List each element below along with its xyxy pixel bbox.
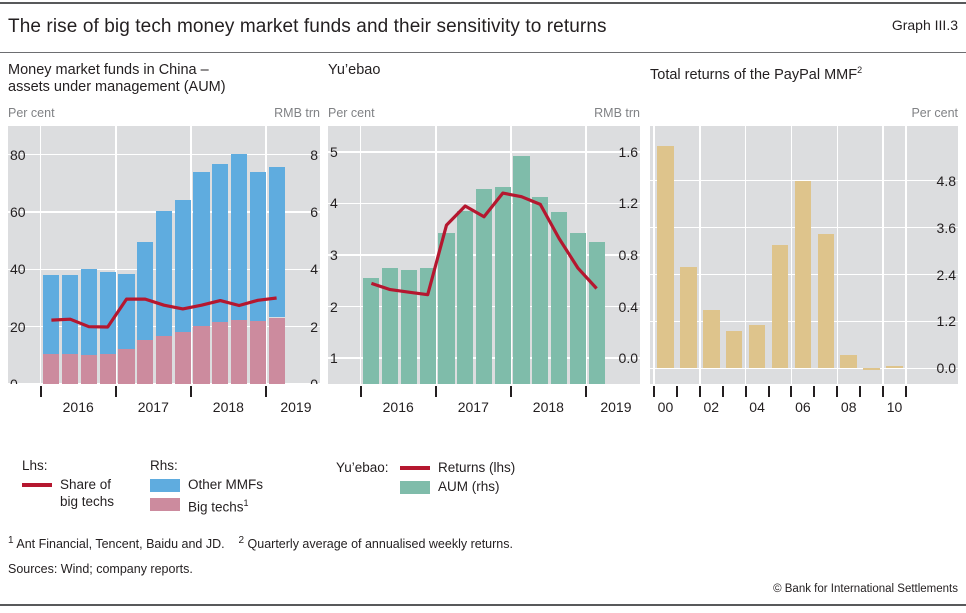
- x-axis-tick: [510, 386, 512, 397]
- legend-share-label-line1: Share of: [60, 477, 111, 492]
- panel-yuebao: Yu’ebao Per cent RMB trn 123450.00.40.81…: [328, 62, 640, 442]
- panel-1-axis-units: Per cent RMB trn: [8, 106, 320, 126]
- y-axis-label-right: 8: [310, 147, 318, 163]
- x-axis-tick: [859, 386, 861, 397]
- returns-bar: [863, 368, 879, 370]
- returns-bar: [749, 325, 765, 368]
- y-axis-label-right: 1.6: [619, 144, 638, 160]
- gridline-v: [699, 126, 701, 384]
- y-axis-label-right: 4.8: [937, 173, 956, 189]
- returns-line: [328, 126, 640, 384]
- copyright-text: © Bank for International Settlements: [773, 583, 958, 595]
- panel-2-title: Yu’ebao: [328, 62, 640, 102]
- panel-1-title: Money market funds in China – assets und…: [8, 62, 320, 102]
- x-axis-label: 02: [703, 399, 719, 415]
- y-axis-label-left: 0: [10, 376, 18, 384]
- pink-swatch-icon: [150, 498, 180, 511]
- x-axis-tick: [585, 386, 587, 397]
- y-axis-label-left: 4: [330, 195, 338, 211]
- x-axis-tick: [435, 386, 437, 397]
- graph-number: Graph III.3: [892, 17, 958, 33]
- x-axis-tick: [676, 386, 678, 397]
- panel-3-x-axis: [650, 384, 958, 398]
- y-axis-label-left: 20: [10, 319, 26, 335]
- returns-bar: [703, 310, 719, 369]
- gridline-v: [653, 126, 655, 384]
- legend-item-share-of-big-techs: Share of big techs: [22, 476, 142, 510]
- footnote-2-marker: 2: [239, 535, 245, 546]
- footnote-1-text: Ant Financial, Tencent, Baidu and JD.: [16, 537, 224, 551]
- footnote-1-marker: 1: [8, 535, 14, 546]
- x-axis-tick: [790, 386, 792, 397]
- legend-other-mmfs-label: Other MMFs: [188, 476, 263, 493]
- y-axis-label-right: 2.4: [937, 267, 956, 283]
- y-axis-label-right: 2: [310, 319, 318, 335]
- panel-3-plot: 0.01.22.43.64.8: [650, 126, 958, 384]
- top-rule: [0, 2, 966, 4]
- x-axis-label: 10: [887, 399, 903, 415]
- x-axis-label: 00: [658, 399, 674, 415]
- x-axis-label: 2016: [383, 399, 414, 415]
- legend-big-techs-footnote-marker: 1: [244, 498, 249, 508]
- y-axis-label-right: 0.8: [619, 247, 638, 263]
- x-axis-label: 06: [795, 399, 811, 415]
- y-axis-label-right: 6: [310, 204, 318, 220]
- x-axis-label: 2017: [458, 399, 489, 415]
- returns-bar: [840, 355, 856, 369]
- y-axis-label-left: 5: [330, 144, 338, 160]
- legend-share-label-line2: big techs: [60, 494, 114, 509]
- returns-bar: [818, 234, 834, 369]
- legend-returns-label: Returns (lhs): [438, 458, 515, 477]
- x-axis-tick: [265, 386, 267, 397]
- x-axis-label: 2018: [213, 399, 244, 415]
- blue-swatch-icon: [150, 479, 180, 492]
- panel-3-x-labels: 000204060810: [650, 398, 958, 420]
- x-axis-tick: [768, 386, 770, 397]
- returns-bar: [657, 146, 673, 369]
- y-axis-label-left: 3: [330, 247, 338, 263]
- x-axis-label: 08: [841, 399, 857, 415]
- gridline-v: [791, 126, 793, 384]
- title-rule: [0, 52, 966, 53]
- panel-1-unit-left: Per cent: [8, 106, 55, 120]
- panel-1-x-labels: 2016201720182019: [8, 398, 320, 420]
- legend-1-rhs: Rhs: Other MMFs Big techs1: [150, 458, 330, 518]
- gridline-v: [905, 126, 907, 384]
- x-axis-label: 2018: [533, 399, 564, 415]
- legend-aum-label: AUM (rhs): [438, 477, 500, 496]
- y-axis-label-right: 0.0: [937, 360, 956, 376]
- x-axis-tick: [360, 386, 362, 397]
- y-axis-label-right: 4: [310, 261, 318, 277]
- x-axis-label: 04: [749, 399, 765, 415]
- legend-item-returns: Yu’ebao: Returns (lhs): [336, 458, 636, 477]
- x-axis-tick: [653, 386, 655, 397]
- green-swatch-icon: [400, 481, 430, 494]
- bottom-rule: [0, 604, 966, 606]
- line-swatch-icon: [400, 466, 430, 470]
- y-axis-label-left: 80: [10, 147, 26, 163]
- x-axis-tick: [699, 386, 701, 397]
- panel-1-plot: 02040608002468: [8, 126, 320, 384]
- x-axis-label: 2017: [138, 399, 169, 415]
- panel-2-x-axis: [328, 384, 640, 398]
- x-axis-label: 2019: [280, 399, 311, 415]
- gridline-v: [837, 126, 839, 384]
- x-axis-tick: [40, 386, 42, 397]
- legend-item-aum: AUM (rhs): [336, 477, 636, 496]
- panel-money-market-funds-china: Money market funds in China – assets und…: [8, 62, 320, 442]
- panel-2-unit-left: Per cent: [328, 106, 375, 120]
- legend-item-other-mmfs: Other MMFs: [150, 476, 330, 493]
- returns-bar: [772, 245, 788, 368]
- panel-2-title-text: Yu’ebao: [328, 62, 640, 79]
- y-axis-label-left: 2: [330, 299, 338, 315]
- share-of-big-techs-line: [8, 126, 320, 384]
- returns-bar: [886, 366, 902, 368]
- panel-2-axis-units: Per cent RMB trn: [328, 106, 640, 126]
- legend-rhs-head: Rhs:: [150, 458, 330, 473]
- panel-2-plot: 123450.00.40.81.21.6: [328, 126, 640, 384]
- legend-big-techs-label: Big techs: [188, 500, 244, 515]
- x-axis-tick: [882, 386, 884, 397]
- sources-text: Sources: Wind; company reports.: [8, 562, 193, 576]
- panel-2-x-labels: 2016201720182019: [328, 398, 640, 420]
- panel-2-unit-right: RMB trn: [594, 106, 640, 120]
- panel-3-title: Total returns of the PayPal MMF2: [650, 62, 958, 102]
- y-axis-label-right: 0: [310, 376, 318, 384]
- x-axis-tick: [836, 386, 838, 397]
- y-axis-label-right: 1.2: [937, 313, 956, 329]
- x-axis-tick: [905, 386, 907, 397]
- legend-lhs-head: Lhs:: [22, 458, 142, 473]
- y-axis-label-left: 40: [10, 261, 26, 277]
- gridline-v: [745, 126, 747, 384]
- y-axis-label-right: 3.6: [937, 220, 956, 236]
- x-axis-tick: [115, 386, 117, 397]
- panel-1-title-line2: assets under management (AUM): [8, 79, 320, 96]
- gridline-v: [882, 126, 884, 384]
- panel-paypal-mmf: Total returns of the PayPal MMF2 Per cen…: [650, 62, 958, 442]
- panel-1-unit-right: RMB trn: [274, 106, 320, 120]
- y-axis-label-left: 1: [330, 350, 338, 366]
- panel-3-title-text: Total returns of the PayPal MMF: [650, 67, 857, 83]
- x-axis-label: 2016: [63, 399, 94, 415]
- panel-3-footnote-marker: 2: [857, 65, 862, 75]
- panel-2-legend: Yu’ebao: Returns (lhs) AUM (rhs): [336, 458, 636, 496]
- y-axis-label-right: 0.4: [619, 299, 638, 315]
- returns-bar: [795, 181, 811, 369]
- x-axis-tick: [722, 386, 724, 397]
- page-title: The rise of big tech money market funds …: [8, 14, 958, 40]
- footnotes: 1 Ant Financial, Tencent, Baidu and JD. …: [8, 532, 958, 553]
- x-axis-label: 2019: [600, 399, 631, 415]
- legend-1-lhs: Lhs: Share of big techs: [22, 458, 142, 512]
- y-axis-label-right: 0.0: [619, 350, 638, 366]
- y-axis-label-right: 1.2: [619, 195, 638, 211]
- x-axis-tick: [745, 386, 747, 397]
- legend-item-big-techs: Big techs1: [150, 495, 330, 516]
- panel-1-x-axis: [8, 384, 320, 398]
- title-bar: The rise of big tech money market funds …: [8, 14, 958, 48]
- panel-3-axis-units: Per cent: [650, 106, 958, 126]
- panel-1-title-line1: Money market funds in China –: [8, 62, 320, 79]
- x-axis-tick: [190, 386, 192, 397]
- returns-bar: [726, 331, 742, 368]
- footnote-2-text: Quarterly average of annualised weekly r…: [248, 537, 513, 551]
- x-axis-tick: [813, 386, 815, 397]
- returns-bar: [680, 267, 696, 369]
- line-swatch-icon: [22, 483, 52, 487]
- legend-yuebao-prefix: Yu’ebao:: [336, 458, 400, 477]
- panel-3-unit-right: Per cent: [911, 106, 958, 120]
- y-axis-label-left: 60: [10, 204, 26, 220]
